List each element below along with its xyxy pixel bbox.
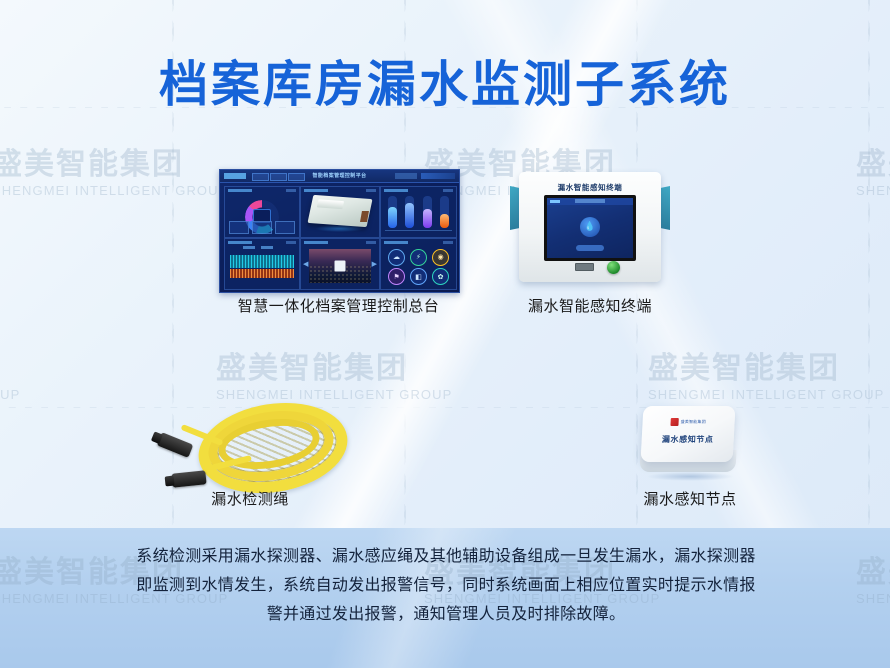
cable-caption-wrap: 漏水检测绳 [150, 490, 350, 510]
video-overlay-icon [335, 261, 346, 272]
bar-gauge [423, 196, 432, 228]
panel-title-bar [304, 189, 328, 192]
screen-header [547, 198, 633, 205]
panel-more-icon[interactable] [443, 241, 453, 244]
screen-action-button[interactable] [576, 245, 604, 251]
sensor-node-image: 盛美智能集团 漏水感知节点 [630, 402, 750, 494]
settings-icon[interactable]: ✿ [432, 268, 449, 285]
terminal-green-button[interactable] [607, 261, 620, 274]
stat-pill[interactable] [229, 221, 249, 234]
dashboard-header: 智能档案管理控制平台 [220, 170, 459, 183]
area-chart [230, 255, 294, 283]
panel-title-bar [304, 241, 328, 244]
area-series-2 [230, 269, 294, 278]
function-icon-grid: ☁ ⚡ ◉ ⚑ ◧ ✿ [386, 248, 451, 286]
panel-more-icon[interactable] [366, 189, 376, 192]
page-title: 档案库房漏水监测子系统 [0, 56, 890, 114]
node-printed-label: 漏水感知节点 [641, 434, 734, 445]
area-series-1 [230, 255, 294, 268]
gauge-panel [224, 186, 300, 238]
dashboard-status-chip [395, 173, 417, 179]
video-feed[interactable] [309, 249, 371, 283]
device-render-panel [300, 186, 380, 238]
terminal-printed-label: 漏水智能感知终端 [519, 182, 661, 193]
stat-pill[interactable] [252, 221, 272, 234]
panel-more-icon[interactable] [366, 241, 376, 244]
humidity-icon[interactable]: ☁ [388, 249, 405, 266]
alarm-icon[interactable]: ⚑ [388, 268, 405, 285]
node-brand-label: 盛美智能集团 [680, 419, 706, 425]
description-line-3: 警并通过发出报警，通知管理人员及时排除故障。 [96, 600, 796, 629]
next-arrow-icon[interactable]: ▶ [372, 260, 377, 268]
description-line-2: 即监测到水情发生，系统自动发出报警信号，同时系统画面上相应位置实时提示水情报 [96, 571, 796, 600]
prev-arrow-icon[interactable]: ◀ [303, 260, 308, 268]
cable-image [150, 398, 350, 498]
panel-more-icon[interactable] [286, 241, 296, 244]
bar-gauge [388, 196, 397, 228]
console-dashboard-image: 智能档案管理控制平台 [219, 169, 460, 293]
panel-title-bar [228, 241, 252, 244]
screen-title [575, 199, 605, 203]
console-caption: 智慧一体化档案管理控制总台 [219, 297, 458, 317]
speaker-icon[interactable]: ◧ [410, 268, 427, 285]
node-caption-wrap: 漏水感知节点 [590, 490, 790, 510]
dashboard-logo [224, 173, 246, 179]
dashboard-title: 智能档案管理控制平台 [312, 172, 366, 179]
stat-pill[interactable] [275, 221, 295, 234]
terminal-device-image: 漏水智能感知终端 💧 [497, 172, 683, 289]
cable-connector-upper [157, 432, 194, 458]
cable-caption: 漏水检测绳 [150, 490, 350, 510]
chart-legend [243, 246, 273, 249]
node-brand-logo: 盛美智能集团 [670, 418, 706, 426]
bar-gauges [388, 196, 449, 228]
node-shadow [646, 472, 734, 481]
panel-more-icon[interactable] [443, 189, 453, 192]
water-drop-icon: 💧 [580, 217, 600, 237]
cable-connector-lower [171, 470, 206, 487]
description-paragraph: 系统检测采用漏水探测器、漏水感应绳及其他辅助设备组成一旦发生漏水，漏水探测器 即… [96, 542, 796, 629]
icon-grid-panel: ☁ ⚡ ◉ ⚑ ◧ ✿ [380, 238, 457, 290]
bar-axis [385, 230, 452, 231]
panel-title-bar [384, 189, 408, 192]
terminal-body: 漏水智能感知终端 💧 [519, 172, 661, 282]
dashboard-menu-item[interactable] [270, 173, 287, 181]
dashboard-menu-item[interactable] [252, 173, 269, 181]
poster-page: 盛美智能集团 SHENGMEI INTELLIGENT GROUP 盛美智能集团… [0, 0, 890, 668]
power-icon[interactable]: ⚡ [410, 249, 427, 266]
terminal-screen[interactable]: 💧 [547, 198, 633, 258]
bars-panel [380, 186, 457, 238]
bar-gauge [440, 196, 449, 228]
panel-more-icon[interactable] [286, 189, 296, 192]
area-chart-panel [224, 238, 300, 290]
terminal-caption-wrap: 漏水智能感知终端 [490, 297, 690, 317]
terminal-port [575, 263, 594, 271]
dashboard-user-chip[interactable] [421, 173, 455, 179]
screen-logo [550, 200, 560, 203]
camera-icon[interactable]: ◉ [432, 249, 449, 266]
panel-title-bar [384, 241, 408, 244]
bar-gauge [405, 196, 414, 228]
console-caption-wrap: 智慧一体化档案管理控制总台 [219, 297, 458, 317]
video-panel: ◀ ▶ [300, 238, 380, 290]
node-top-face: 盛美智能集团 漏水感知节点 [641, 406, 736, 462]
brand-mark-icon [670, 418, 678, 426]
description-line-1: 系统检测采用漏水探测器、漏水感应绳及其他辅助设备组成一旦发生漏水，漏水探测器 [96, 542, 796, 571]
terminal-screen-bezel: 💧 [544, 195, 636, 261]
gauge-stat-pills [229, 221, 295, 234]
terminal-caption: 漏水智能感知终端 [490, 297, 690, 317]
panel-title-bar [228, 189, 252, 192]
dashboard-menu-item[interactable] [288, 173, 305, 181]
node-caption: 漏水感知节点 [590, 490, 790, 510]
